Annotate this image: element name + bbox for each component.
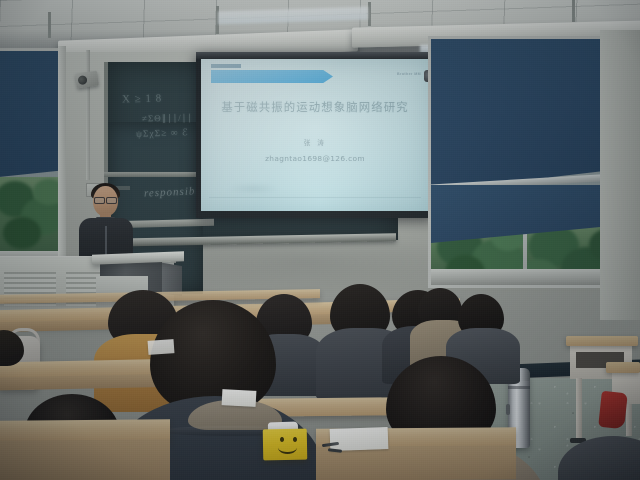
wall-stain [200, 240, 460, 295]
slide-smudge [227, 184, 279, 193]
window-glass [0, 177, 59, 253]
slide-footer-rule [209, 197, 421, 198]
window-right [428, 36, 618, 288]
paper-sheet[interactable] [148, 339, 175, 355]
projection-screen-roller [196, 52, 434, 59]
slide-title: 基于磁共振的运动想象脑网络研究 [201, 99, 429, 115]
paper-sheet[interactable] [330, 427, 389, 451]
desk-row-near-front [0, 439, 170, 480]
side-desk-top [606, 362, 640, 373]
window-frame [58, 46, 66, 272]
side-desk-top [566, 336, 638, 346]
window-left [0, 48, 62, 268]
paper-sheet[interactable] [222, 389, 257, 407]
smiley-mouth-icon [278, 441, 297, 454]
window-sill [431, 269, 615, 285]
side-desk-leg [576, 378, 582, 440]
projection-screen: Brother MM 基于磁共振的运动想象脑网络研究 张 涛 zhagntao1… [201, 59, 429, 211]
fixture-rod [48, 12, 51, 38]
presenter [74, 186, 140, 256]
thermos-clip [506, 404, 510, 415]
lecture-hall-photo: X ≥ 1 8 ≠ΣΘ∥∣∣/∣∣ ψΣχΣ≥ ∞ ℰ responsibili… [0, 0, 640, 480]
slide-banner-accent [211, 64, 241, 68]
slide-corner-logo: Brother MM [397, 72, 421, 76]
slide-banner-arrow [211, 70, 333, 83]
slide-author: 张 涛 [201, 137, 429, 147]
glasses-icon [94, 197, 117, 202]
window-blind [0, 51, 59, 177]
fixture-rod [368, 2, 371, 26]
wall-conduit [86, 50, 90, 180]
wall-pillar [600, 30, 640, 320]
fixture-rod [572, 0, 575, 22]
wall-speaker-icon [75, 71, 99, 89]
window-blind [431, 39, 615, 191]
thermos-band [508, 386, 530, 389]
desk-row-near-right-front [316, 445, 516, 480]
slide-email: zhagntao1698@126.com [201, 154, 429, 163]
red-garment [598, 391, 628, 430]
